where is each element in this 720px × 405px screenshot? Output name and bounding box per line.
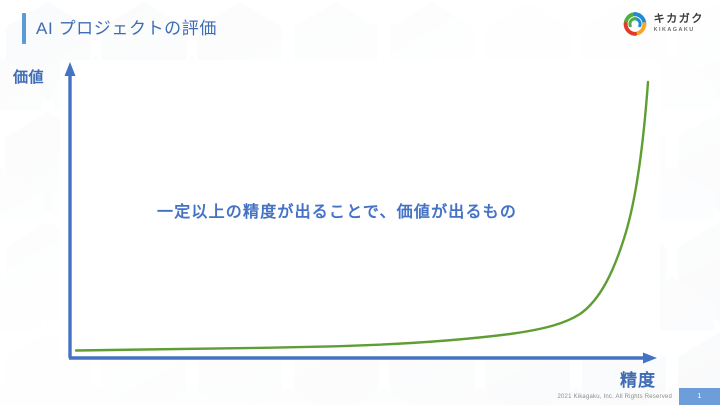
y-axis-label: 価値	[13, 66, 44, 87]
slide-canvas: AI プロジェクトの評価 キカガク KIKAGAKU	[0, 0, 720, 405]
y-axis	[65, 62, 76, 358]
value-vs-accuracy-chart: 価値 精度 一定以上の精度が出ることで、価値が出るもの	[0, 0, 720, 405]
footer-copyright: 2021 Kikagaku, Inc. All Rights Reserved	[557, 394, 672, 400]
page-number-badge: 1	[679, 388, 720, 405]
x-axis	[69, 353, 657, 364]
x-axis-label: 精度	[620, 366, 656, 391]
chart-annotation-text: 一定以上の精度が出ることで、価値が出るもの	[157, 198, 517, 222]
